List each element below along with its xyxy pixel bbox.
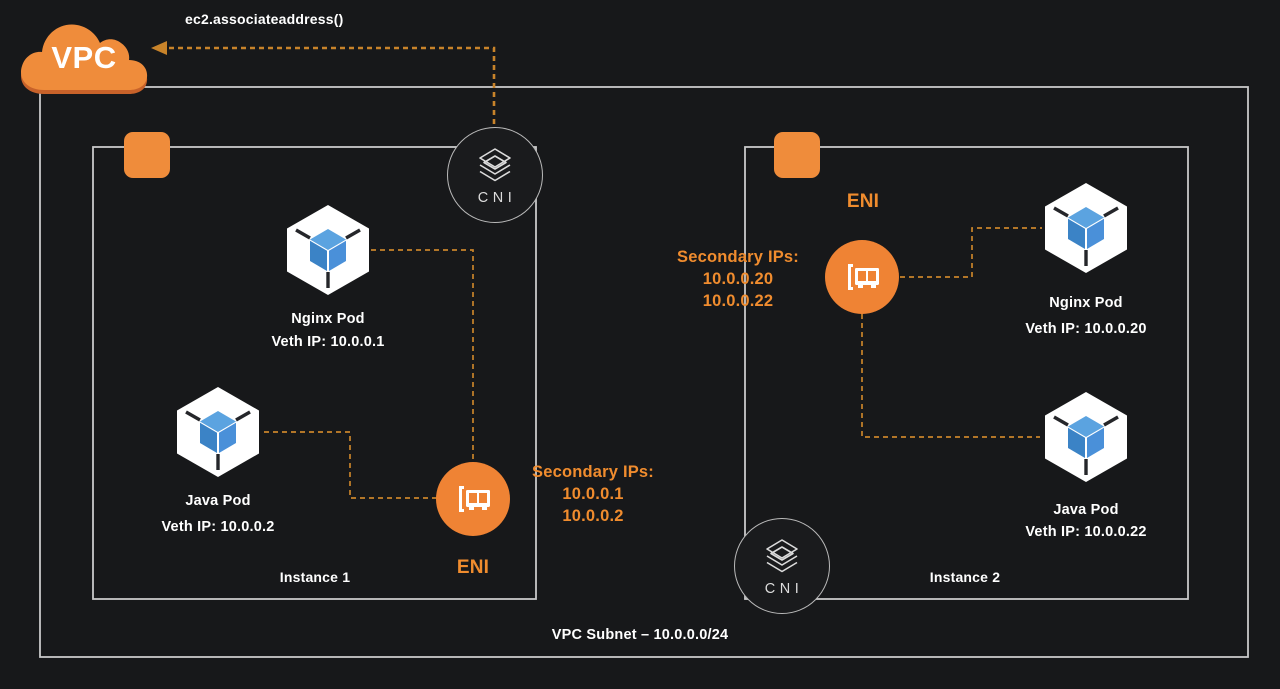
cube-icon [170, 384, 266, 480]
eni-icon-instance-1[interactable] [436, 462, 510, 536]
secondary-ip-1-b: 10.0.0.2 [513, 505, 673, 527]
instance-1-gateway-node[interactable] [124, 132, 170, 178]
secondary-ips-title-2: Secondary IPs: [658, 246, 818, 268]
eni-caption-instance-2: ENI [808, 191, 918, 213]
layers-icon [761, 536, 803, 578]
secondary-ips-title-1: Secondary IPs: [513, 461, 673, 483]
cni-icon-instance-2[interactable]: CNI [734, 518, 830, 614]
java-pod-2-ip: Veth IP: 10.0.0.22 [986, 524, 1186, 540]
secondary-ip-1-a: 10.0.0.1 [513, 483, 673, 505]
nginx-pod-2-ip: Veth IP: 10.0.0.20 [986, 321, 1186, 337]
vpc-cloud[interactable]: VPC [14, 14, 154, 99]
java-pod-instance-2[interactable] [1038, 389, 1134, 485]
eni-icon-instance-2[interactable] [825, 240, 899, 314]
instance-2-gateway-node[interactable] [774, 132, 820, 178]
cube-icon [1038, 180, 1134, 276]
nginx-pod-2-name: Nginx Pod [986, 295, 1186, 311]
java-pod-instance-1[interactable] [170, 384, 266, 480]
vpc-subnet-boundary [40, 87, 1248, 657]
cube-icon [280, 202, 376, 298]
api-call-label: ec2.associateaddress() [185, 11, 344, 27]
secondary-ips-instance-2: Secondary IPs: 10.0.0.20 10.0.0.22 [658, 246, 818, 312]
java-pod-1-name: Java Pod [118, 493, 318, 509]
cni-icon-instance-1[interactable]: CNI [447, 127, 543, 223]
cni-to-vpc-connector [163, 48, 494, 160]
layers-icon [474, 145, 516, 187]
vpc-subnet-label: VPC Subnet – 10.0.0.0/24 [540, 627, 740, 643]
nginx-pod-1-ip: Veth IP: 10.0.0.1 [228, 334, 428, 350]
cube-icon [1038, 389, 1134, 485]
java-pod-1-to-eni-connector [264, 432, 438, 498]
cni-label-instance-2: CNI [761, 581, 803, 597]
network-card-icon [451, 477, 495, 521]
instance-2-label: Instance 2 [895, 569, 1035, 585]
java-pod-1-ip: Veth IP: 10.0.0.2 [118, 519, 318, 535]
nginx-pod-1-name: Nginx Pod [228, 311, 428, 327]
nginx-pod-1-to-eni-connector [371, 250, 473, 462]
secondary-ip-2-a: 10.0.0.20 [658, 268, 818, 290]
nginx-pod-instance-1[interactable] [280, 202, 376, 298]
eni-caption-instance-1: ENI [418, 557, 528, 579]
diagram-canvas: VPC ec2.associateaddress() CNI CNI [0, 0, 1280, 689]
connector-layer [0, 0, 1280, 689]
eni-2-to-nginx-pod-connector [900, 228, 1042, 277]
nginx-pod-instance-2[interactable] [1038, 180, 1134, 276]
instance-1-label: Instance 1 [245, 569, 385, 585]
cni-label-instance-1: CNI [474, 190, 516, 206]
network-card-icon [840, 255, 884, 299]
vpc-label: VPC [14, 40, 154, 76]
java-pod-2-name: Java Pod [986, 502, 1186, 518]
secondary-ip-2-b: 10.0.0.22 [658, 290, 818, 312]
secondary-ips-instance-1: Secondary IPs: 10.0.0.1 10.0.0.2 [513, 461, 673, 527]
